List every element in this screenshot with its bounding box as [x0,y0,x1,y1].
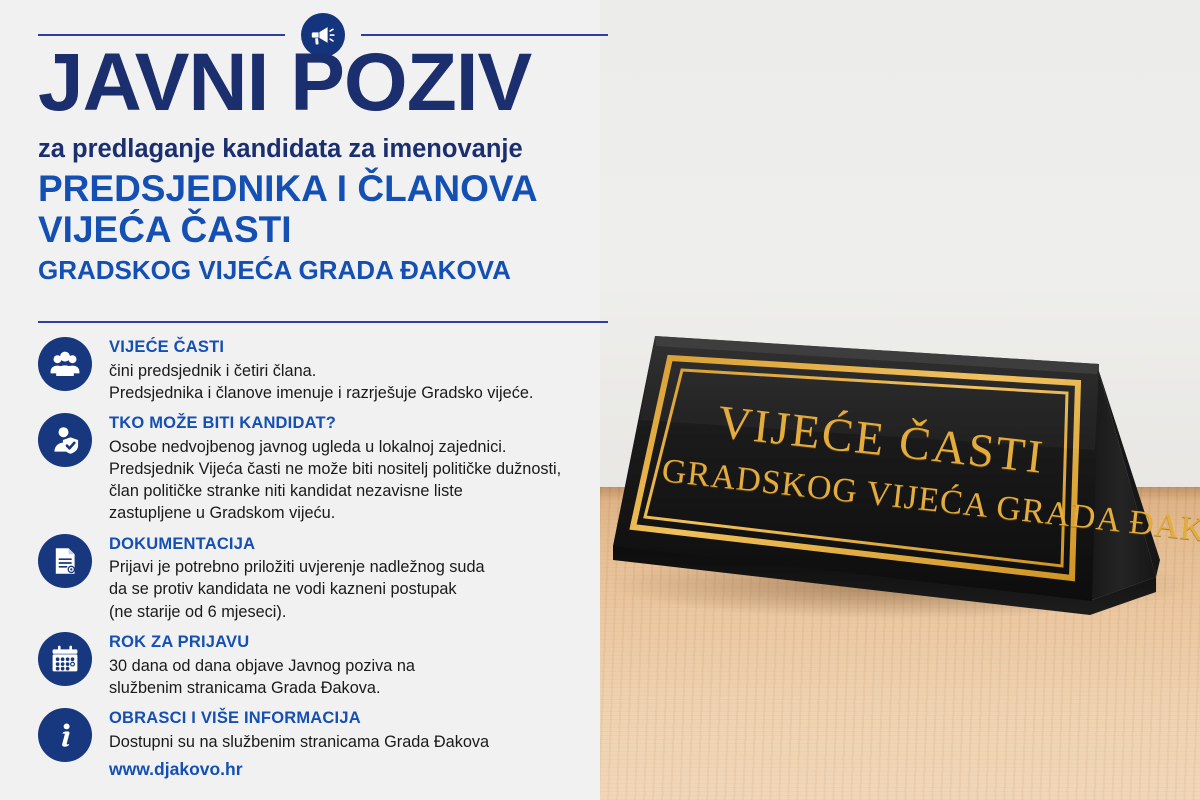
title-line-small: GRADSKOG VIJEĆA GRADA ĐAKOVA [38,257,618,285]
list-item-title: VIJEĆE ČASTI [109,338,618,358]
document-seal-icon [38,534,92,588]
poster: VIJEĆE ČASTI GRADSKOG VIJEĆA GRADA ĐAKOV… [0,0,1200,800]
top-divider-right [361,34,608,36]
title-block: JAVNI POZIV za predlaganje kandidata za … [38,44,618,285]
list-item-line: zastupljene u Gradskom vijeću. [109,502,618,524]
list-item-line: Dostupni su na službenim stranicama Grad… [109,731,618,753]
list-item-line: Prijavi je potrebno priložiti uvjerenje … [109,556,618,578]
content-column: JAVNI POZIV za predlaganje kandidata za … [0,0,640,800]
people-group-icon [38,337,92,391]
list-item-body: VIJEĆE ČASTI čini predsjednik i četiri č… [109,337,618,404]
nameplate-photo: VIJEĆE ČASTI GRADSKOG VIJEĆA GRADA ĐAKOV… [600,0,1200,800]
list-item-line: Predsjednik Vijeća časti ne može biti no… [109,458,618,480]
list-item-body: DOKUMENTACIJA Prijavi je potrebno prilož… [109,534,618,623]
person-shield-check-icon [38,413,92,467]
list-item-body: TKO MOŽE BITI KANDIDAT? Osobe nedvojbeno… [109,413,618,524]
list-item-line: Predsjednika i članove imenuje i razrješ… [109,382,618,404]
list-item-line: (ne starije od 6 mjeseci). [109,601,618,623]
list-item-body: OBRASCI I VIŠE INFORMACIJA Dostupni su n… [109,708,618,780]
desk-nameplate: VIJEĆE ČASTI GRADSKOG VIJEĆA GRADA ĐAKOV… [600,0,1200,800]
title-line-big-1: PREDSJEDNIKA I ČLANOVA [38,169,618,208]
info-list: VIJEĆE ČASTI čini predsjednik i četiri č… [38,337,618,789]
website-link[interactable]: www.djakovo.hr [109,759,618,780]
list-item: ROK ZA PRIJAVU 30 dana od dana objave Ja… [38,632,618,699]
list-item: DOKUMENTACIJA Prijavi je potrebno prilož… [38,534,618,623]
list-item-title: DOKUMENTACIJA [109,535,618,555]
title-line-big-2: VIJEĆA ČASTI [38,210,618,249]
list-item-title: OBRASCI I VIŠE INFORMACIJA [109,709,618,729]
list-item-line: čini predsjednik i četiri člana. [109,360,618,382]
top-divider-left [38,34,285,36]
page-subtitle: za predlaganje kandidata za imenovanje [38,136,618,163]
list-item-body: ROK ZA PRIJAVU 30 dana od dana objave Ja… [109,632,618,699]
page-title: JAVNI POZIV [38,44,618,122]
list-item-line: 30 dana od dana objave Javnog poziva na [109,655,618,677]
list-item-line: član političke stranke niti kandidat nez… [109,480,618,502]
info-icon [38,708,92,762]
list-item-line: službenim stranicama Grada Đakova. [109,677,618,699]
list-item: TKO MOŽE BITI KANDIDAT? Osobe nedvojbeno… [38,413,618,524]
list-item-line: da se protiv kandidata ne vodi kazneni p… [109,578,618,600]
list-item-title: ROK ZA PRIJAVU [109,633,618,653]
calendar-icon [38,632,92,686]
list-item-line: Osobe nedvojbenog javnog ugleda u lokaln… [109,436,618,458]
list-item-title: TKO MOŽE BITI KANDIDAT? [109,414,618,434]
title-bottom-divider [38,321,608,323]
list-item: OBRASCI I VIŠE INFORMACIJA Dostupni su n… [38,708,618,780]
list-item: VIJEĆE ČASTI čini predsjednik i četiri č… [38,337,618,404]
